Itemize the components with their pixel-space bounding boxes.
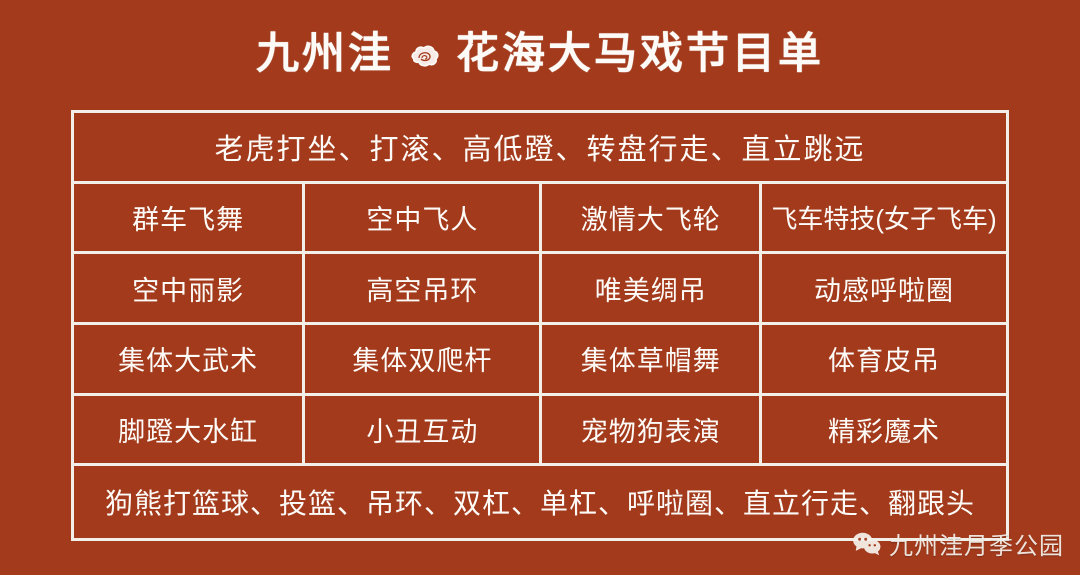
- program-table: 老虎打坐、打滚、高低蹬、转盘行走、直立跳远 群车飞舞 空中飞人 激情大飞轮 飞车…: [71, 110, 1009, 541]
- table-cell: 动感呼啦圈: [762, 254, 1006, 322]
- table-cell: 空中丽影: [74, 254, 305, 322]
- title-text-right: 花海大马戏节目单: [456, 33, 824, 76]
- table-cell: 集体双爬杆: [305, 325, 542, 393]
- table-cell: 体育皮吊: [762, 325, 1006, 393]
- table-cell: 飞车特技(女子飞车): [762, 184, 1006, 252]
- watermark: 九州洼月季公园: [852, 526, 1064, 561]
- table-cell: 精彩魔术: [762, 396, 1006, 464]
- page-title: 九州洼 花海大马戏节目单: [0, 18, 1080, 90]
- table-cell: 群车飞舞: [74, 184, 305, 252]
- table-row: 脚蹬大水缸 小丑互动 宠物狗表演 精彩魔术: [74, 396, 1006, 467]
- rose-icon: [408, 40, 442, 74]
- table-cell: 小丑互动: [305, 396, 542, 464]
- table-cell-tiger-acts: 老虎打坐、打滚、高低蹬、转盘行走、直立跳远: [74, 113, 1006, 181]
- table-cell: 宠物狗表演: [542, 396, 761, 464]
- table-cell: 集体草帽舞: [542, 325, 761, 393]
- table-cell: 集体大武术: [74, 325, 305, 393]
- table-row: 空中丽影 高空吊环 唯美绸吊 动感呼啦圈: [74, 254, 1006, 325]
- table-row-header: 老虎打坐、打滚、高低蹬、转盘行走、直立跳远: [74, 113, 1006, 184]
- table-cell: 高空吊环: [305, 254, 542, 322]
- title-text-left: 九州洼: [256, 33, 394, 76]
- wechat-icon: [852, 531, 882, 557]
- table-cell: 唯美绸吊: [542, 254, 761, 322]
- table-cell: 激情大飞轮: [542, 184, 761, 252]
- table-cell: 空中飞人: [305, 184, 542, 252]
- watermark-text: 九州洼月季公园: [889, 526, 1064, 561]
- table-cell: 脚蹬大水缸: [74, 396, 305, 464]
- table-row: 群车飞舞 空中飞人 激情大飞轮 飞车特技(女子飞车): [74, 184, 1006, 255]
- table-row: 集体大武术 集体双爬杆 集体草帽舞 体育皮吊: [74, 325, 1006, 396]
